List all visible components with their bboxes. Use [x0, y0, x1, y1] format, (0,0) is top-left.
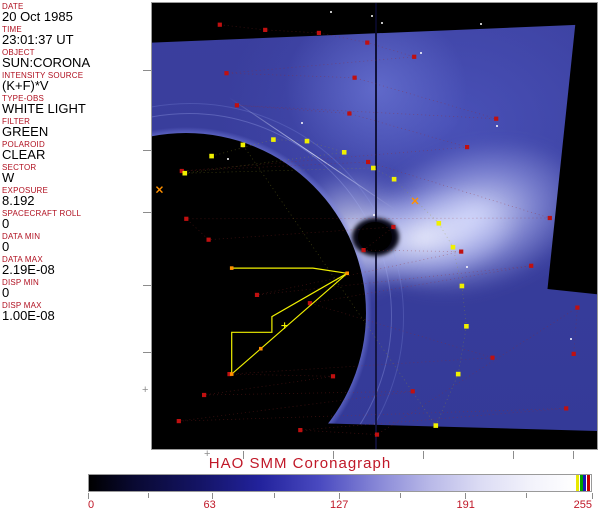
red-marker-dot	[564, 406, 568, 410]
metadata-field: DATE 20 Oct 1985	[2, 2, 140, 24]
red-marker-dot	[353, 76, 357, 80]
orange-x-marker	[156, 187, 162, 193]
red-marker-dot	[490, 356, 494, 360]
colorbar-stripe	[587, 475, 590, 491]
coronagraph-viewer: DATE 20 Oct 1985 TIME 23:01:37 UT OBJECT…	[0, 0, 600, 512]
polygon-vertex-handle[interactable]	[345, 272, 349, 276]
metadata-field: TIME 23:01:37 UT	[2, 25, 140, 47]
colorbar-tick-label: 0	[88, 499, 94, 511]
metadata-field: FILTER GREEN	[2, 117, 140, 139]
left-axis-tick	[143, 212, 151, 213]
colorbar-labels: 063127191255	[88, 499, 592, 513]
red-marker-dot	[366, 160, 370, 164]
red-marker-dot	[224, 71, 228, 75]
page-title: HAO SMM Coronagraph	[0, 456, 600, 472]
yellow-marker-dot	[464, 324, 469, 329]
red-marker-dot	[235, 103, 239, 107]
colorbar-stripe	[576, 475, 579, 491]
marker-guide-arc	[179, 25, 578, 435]
colorbar-minor-tick	[526, 493, 527, 498]
red-marker-dot	[412, 55, 416, 59]
metadata-field: OBJECT SUN:CORONA	[2, 48, 140, 70]
left-axis-tick	[143, 150, 151, 151]
red-marker-dot	[347, 111, 351, 115]
red-marker-dot	[459, 250, 463, 254]
red-marker-dot	[575, 306, 579, 310]
metadata-value: 0	[2, 240, 140, 254]
yellow-marker-dot	[456, 372, 461, 377]
yellow-marker-dot	[451, 245, 456, 250]
metadata-value: CLEAR	[2, 148, 140, 162]
metadata-field: DATA MAX 2.19E-08	[2, 255, 140, 277]
red-marker-dot	[494, 117, 498, 121]
colorbar-tick-label: 191	[456, 499, 474, 511]
left-axis-tick	[143, 285, 151, 286]
yellow-marker-dot	[437, 221, 442, 226]
metadata-value: 0	[2, 217, 140, 231]
metadata-value: GREEN	[2, 125, 140, 139]
metadata-field: TYPE-OBS WHITE LIGHT	[2, 94, 140, 116]
metadata-field: INTENSITY SOURCE (K+F)*V	[2, 71, 140, 93]
overlay-markers	[152, 3, 598, 450]
yellow-marker-dot	[271, 137, 276, 142]
red-marker-dot	[184, 217, 188, 221]
red-marker-dot	[218, 23, 222, 27]
metadata-field: DISP MIN 0	[2, 278, 140, 300]
colorbar-minor-tick	[400, 493, 401, 498]
orange-x-marker	[412, 198, 418, 204]
red-marker-dot	[298, 428, 302, 432]
colorbar-stripe	[580, 475, 583, 491]
region-center-crosshair	[281, 322, 287, 328]
yellow-marker-dot	[241, 143, 246, 148]
colorbar-stripe	[583, 475, 586, 491]
yellow-marker-dot	[371, 166, 376, 171]
metadata-value: W	[2, 171, 140, 185]
metadata-field: DISP MAX 1.00E-08	[2, 301, 140, 323]
metadata-value: 2.19E-08	[2, 263, 140, 277]
red-marker-dot	[331, 374, 335, 378]
metadata-value: 8.192	[2, 194, 140, 208]
red-marker-dot	[465, 145, 469, 149]
red-marker-dot	[391, 225, 395, 229]
yellow-marker-dot	[209, 154, 214, 159]
polygon-vertex-handle[interactable]	[230, 372, 234, 376]
yellow-marker-dot	[434, 423, 439, 428]
yellow-marker-dot	[305, 139, 310, 144]
red-marker-dot	[411, 389, 415, 393]
left-axis-plus-marker: +	[142, 385, 148, 396]
region-polygon[interactable]	[232, 268, 348, 374]
left-axis-tick	[143, 352, 151, 353]
colorbar-gradient	[89, 475, 591, 491]
metadata-value: 1.00E-08	[2, 309, 140, 323]
red-marker-dot	[365, 41, 369, 45]
colorbar-tick-label: 255	[574, 499, 592, 511]
colorbar-tick-label: 127	[330, 499, 348, 511]
metadata-value: 20 Oct 1985	[2, 10, 140, 24]
region-polygon-hypotenuse	[232, 273, 348, 374]
metadata-panel: DATE 20 Oct 1985 TIME 23:01:37 UT OBJECT…	[0, 0, 140, 452]
left-axis-tick	[143, 70, 151, 71]
metadata-value: 23:01:37 UT	[2, 33, 140, 47]
red-marker-dot	[572, 352, 576, 356]
red-marker-dot	[548, 216, 552, 220]
yellow-marker-dot	[183, 171, 188, 176]
red-marker-dot	[263, 28, 267, 32]
metadata-value: 0	[2, 286, 140, 300]
red-marker-dot	[177, 419, 181, 423]
red-marker-dot	[202, 393, 206, 397]
colorbar-minor-tick	[274, 493, 275, 498]
metadata-value: WHITE LIGHT	[2, 102, 140, 116]
polygon-vertex-handle[interactable]	[230, 266, 234, 270]
metadata-field: POLAROID CLEAR	[2, 140, 140, 162]
marker-guide-arc	[185, 140, 467, 426]
colorbar-minor-tick	[148, 493, 149, 498]
metadata-value: SUN:CORONA	[2, 56, 140, 70]
metadata-field: SPACECRAFT ROLL 0	[2, 209, 140, 231]
yellow-marker-dot	[460, 284, 465, 289]
red-marker-dot	[529, 264, 533, 268]
polygon-vertex-handle[interactable]	[259, 347, 263, 351]
metadata-field: SECTOR W	[2, 163, 140, 185]
red-marker-dot	[207, 238, 211, 242]
colorbar-tick-label: 63	[203, 499, 215, 511]
metadata-value: (K+F)*V	[2, 79, 140, 93]
colorbar[interactable]	[88, 474, 592, 492]
red-marker-dot	[317, 31, 321, 35]
yellow-marker-dot	[342, 150, 347, 155]
metadata-field: EXPOSURE 8.192	[2, 186, 140, 208]
yellow-marker-dot	[392, 177, 397, 182]
red-marker-dot	[362, 248, 366, 252]
metadata-field: DATA MIN 0	[2, 232, 140, 254]
red-marker-dot	[255, 293, 259, 297]
colorbar-tick	[592, 493, 593, 499]
red-marker-dot	[375, 433, 379, 437]
coronagraph-image[interactable]	[151, 2, 598, 450]
